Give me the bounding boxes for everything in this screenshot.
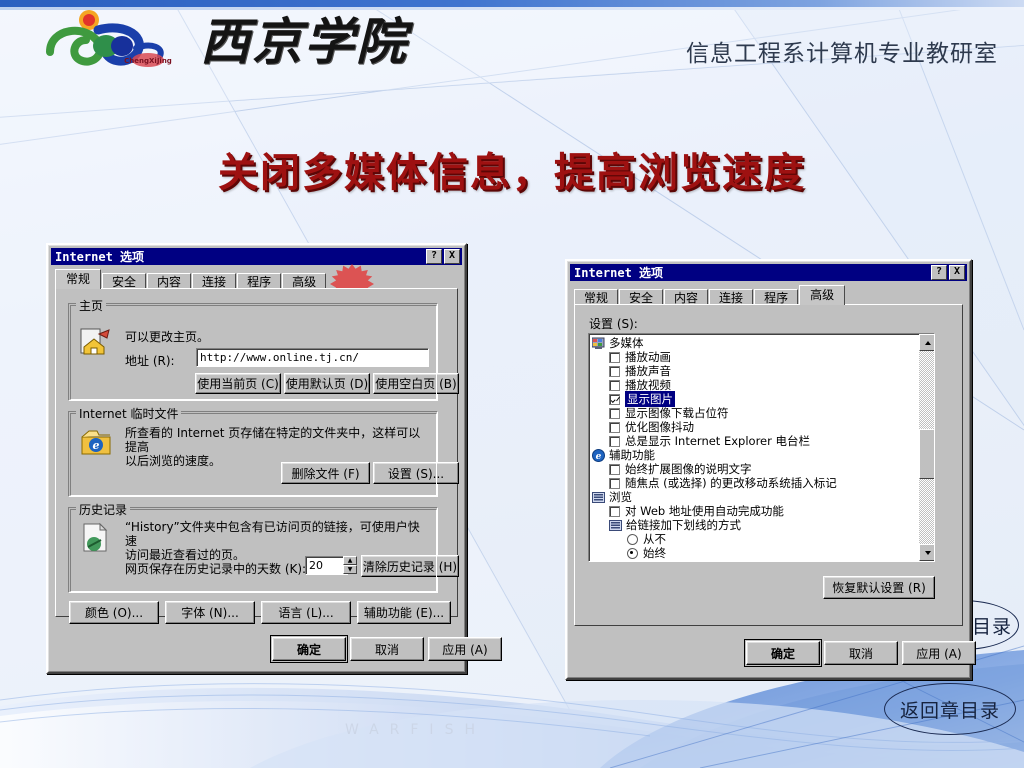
general-dialog-tabstrip[interactable]: 常规 安全 内容 连接 程序 高级	[55, 270, 458, 289]
close-icon[interactable]: X	[949, 265, 965, 280]
list-item[interactable]: 从不	[589, 532, 934, 546]
department-name: 信息工程系计算机专业教研室	[686, 34, 998, 68]
history-icon	[79, 522, 111, 554]
temp-files-group-label: Internet 临时文件	[76, 405, 181, 422]
homepage-description: 可以更改主页。	[125, 328, 209, 345]
history-group: 历史记录 “History”文件夹中包含有已访问页的链接，可使用户快速 访问最近…	[68, 507, 438, 593]
list-item[interactable]: 多媒体	[589, 336, 934, 350]
ok-button[interactable]: 确定	[272, 637, 346, 661]
temp-files-folder-icon: e	[79, 428, 113, 458]
general-dialog-title: Internet 选项	[51, 248, 144, 265]
history-days-stepper[interactable]: ▲ ▼	[343, 556, 357, 574]
stepper-up[interactable]: ▲	[343, 556, 357, 565]
slide-header: ChengXiJing 西京学院 信息工程系计算机专业教研室	[0, 0, 1024, 92]
history-group-label: 历史记录	[76, 501, 130, 518]
advanced-settings-list[interactable]: 多媒体 播放动画 播放声音 播放视频	[588, 333, 935, 562]
apply-button[interactable]: 应用 (A)	[902, 641, 976, 665]
help-icon[interactable]: ?	[931, 265, 947, 280]
languages-button[interactable]: 语言 (L)...	[261, 601, 351, 624]
general-tab-page: 主页 可以更改主页。 地址 (R): http://www.online.tj.…	[55, 288, 458, 617]
colors-button[interactable]: 颜色 (O)...	[69, 601, 159, 624]
school-logo-emblem: ChengXiJing	[40, 8, 190, 76]
homepage-address-input[interactable]: http://www.online.tj.cn/	[196, 348, 429, 367]
list-item[interactable]: 总是显示 Internet Explorer 电台栏	[589, 434, 934, 448]
delete-files-button[interactable]: 删除文件 (F)	[281, 462, 370, 484]
scroll-up-button[interactable]	[919, 334, 935, 351]
temp-files-description-line1: 所查看的 Internet 页存储在特定的文件夹中，这样可以提高	[125, 426, 425, 454]
home-page-icon	[79, 326, 113, 358]
general-dialog-titlebar[interactable]: Internet 选项 ? X	[51, 248, 462, 265]
history-description-line1: “History”文件夹中包含有已访问页的链接，可使用户快速	[125, 520, 425, 548]
checkbox-icon[interactable]	[609, 478, 620, 489]
school-logo: ChengXiJing 西京学院	[40, 4, 420, 84]
list-item[interactable]: 播放动画	[589, 350, 934, 364]
tab-advanced[interactable]: 高级	[799, 285, 845, 305]
use-current-page-button[interactable]: 使用当前页 (C)	[195, 373, 281, 394]
checkbox-icon[interactable]	[609, 506, 620, 517]
ok-button[interactable]: 确定	[746, 641, 820, 665]
close-icon[interactable]: X	[444, 249, 460, 264]
chevron-up-icon	[925, 341, 931, 345]
list-item[interactable]: 随焦点 (或选择) 的更改移动系统插入标记	[589, 476, 934, 490]
tab-general[interactable]: 常规	[55, 269, 101, 289]
accessibility-button[interactable]: 辅助功能 (E)...	[357, 601, 451, 624]
svg-text:ChengXiJing: ChengXiJing	[124, 57, 172, 65]
slide-title: 关闭多媒体信息，提高浏览速度	[0, 140, 1024, 198]
advanced-dialog-tabstrip[interactable]: 常规 安全 内容 连接 程序 高级	[574, 286, 963, 305]
homepage-group: 主页 可以更改主页。 地址 (R): http://www.online.tj.…	[68, 303, 438, 401]
internet-options-advanced-dialog[interactable]: Internet 选项 ? X 常规 安全 内容 连接 程序 高级 设置 (S)…	[565, 259, 972, 680]
browse-icon	[592, 491, 605, 504]
checkbox-icon[interactable]	[609, 380, 620, 391]
cancel-button[interactable]: 取消	[824, 641, 898, 665]
internet-options-general-dialog[interactable]: Internet 选项 ? X 常规 安全 内容 连接 程序 高级 主页	[46, 243, 467, 674]
watermark-text: WARFISH	[345, 722, 486, 738]
clear-history-button[interactable]: 清除历史记录 (H)	[361, 555, 459, 577]
apply-button[interactable]: 应用 (A)	[428, 637, 502, 661]
list-item-selected[interactable]: 显示图片	[589, 392, 934, 406]
cancel-button[interactable]: 取消	[350, 637, 424, 661]
checkbox-icon[interactable]	[609, 422, 620, 433]
homepage-address-label: 地址 (R):	[125, 352, 175, 369]
restore-defaults-button[interactable]: 恢复默认设置 (R)	[823, 576, 935, 599]
chevron-down-icon	[925, 551, 931, 555]
history-days-label: 网页保存在历史记录中的天数 (K):	[125, 560, 306, 577]
list-icon	[609, 519, 622, 532]
list-item[interactable]: 浏览	[589, 490, 934, 504]
list-item[interactable]: 始终扩展图像的说明文字	[589, 462, 934, 476]
checkbox-icon[interactable]	[609, 436, 620, 447]
settings-label: 设置 (S):	[589, 315, 638, 332]
svg-text:e: e	[596, 452, 602, 462]
use-default-page-button[interactable]: 使用默认页 (D)	[284, 373, 370, 394]
advanced-tab-page: 设置 (S): 多媒体	[574, 304, 963, 626]
temp-files-settings-button[interactable]: 设置 (S)...	[373, 462, 459, 484]
radio-icon-selected[interactable]	[627, 548, 638, 559]
list-item-label: 随焦点 (或选择) 的更改移动系统插入标记	[625, 475, 837, 491]
checkbox-icon[interactable]	[609, 352, 620, 363]
checkbox-icon[interactable]	[609, 366, 620, 377]
history-days-input[interactable]: 20	[305, 556, 348, 575]
list-item[interactable]: 播放声音	[589, 364, 934, 378]
list-item[interactable]: e 辅助功能	[589, 448, 934, 462]
fonts-button[interactable]: 字体 (N)...	[165, 601, 255, 624]
accessibility-icon: e	[592, 449, 605, 462]
list-item[interactable]: 给链接加下划线的方式	[589, 518, 934, 532]
list-item[interactable]: 优化图像抖动	[589, 420, 934, 434]
scrollbar-thumb[interactable]	[919, 429, 935, 479]
list-item-label: 始终	[643, 545, 666, 561]
advanced-dialog-title: Internet 选项	[570, 264, 663, 281]
use-blank-page-button[interactable]: 使用空白页 (B)	[373, 373, 459, 394]
stepper-down[interactable]: ▼	[343, 565, 357, 574]
settings-list-scrollbar[interactable]	[919, 334, 934, 561]
checkbox-icon[interactable]	[609, 464, 620, 475]
slide-canvas: ChengXiJing 西京学院 信息工程系计算机专业教研室 关闭多媒体信息，提…	[0, 0, 1024, 768]
list-item[interactable]: 对 Web 地址使用自动完成功能	[589, 504, 934, 518]
checkbox-icon-checked[interactable]	[609, 394, 620, 405]
nav-return-chapter[interactable]: 返回章目录	[884, 683, 1016, 735]
temp-files-group: Internet 临时文件 e 所查看的 Internet 页存储在特定的文件夹…	[68, 411, 438, 497]
svg-text:e: e	[93, 439, 100, 452]
nav-return-chapter-label: 返回章目录	[900, 696, 1000, 723]
radio-icon[interactable]	[627, 534, 638, 545]
list-item[interactable]: 播放视频	[589, 378, 934, 392]
school-name: 西京学院	[200, 2, 408, 74]
advanced-dialog-titlebar[interactable]: Internet 选项 ? X	[570, 264, 967, 281]
homepage-group-label: 主页	[76, 297, 106, 314]
help-icon[interactable]: ?	[426, 249, 442, 264]
scroll-down-button[interactable]	[919, 544, 935, 561]
checkbox-icon[interactable]	[609, 408, 620, 419]
list-item[interactable]: 始终	[589, 546, 934, 560]
multimedia-icon	[592, 337, 605, 350]
list-item[interactable]: 显示图像下载占位符	[589, 406, 934, 420]
